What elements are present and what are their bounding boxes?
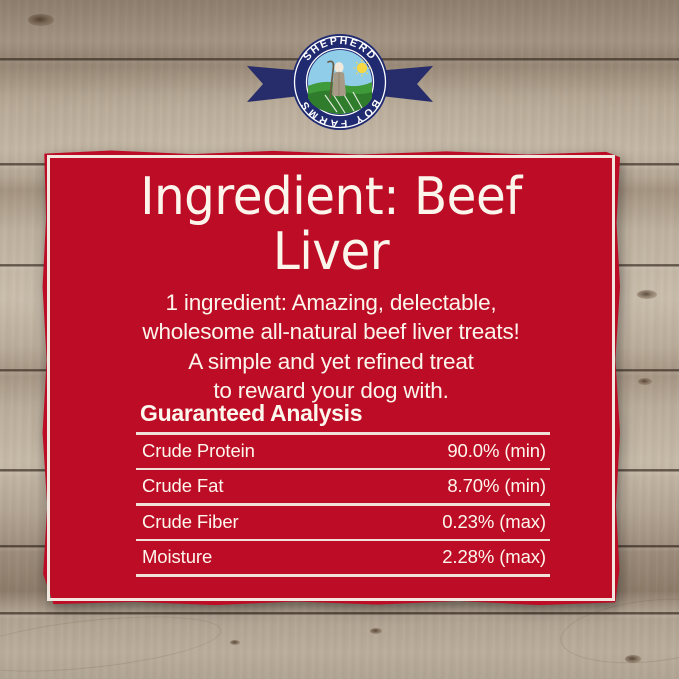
analysis-value: 0.23% (max) — [442, 511, 546, 533]
table-rule — [136, 539, 550, 542]
analysis-label: Crude Fiber — [142, 511, 239, 533]
description-line-3: A simple and yet refined treat — [68, 347, 594, 376]
shepherd-boy-farms-logo-svg: SHEPHERD BOY FARMS — [225, 32, 455, 132]
description-line-2: wholesome all-natural beef liver treats! — [68, 317, 594, 346]
table-row: Crude Protein 90.0% (min) — [136, 435, 550, 468]
product-label-image: SHEPHERD BOY FARMS Ingredient: Beef Live… — [0, 0, 679, 679]
table-row: Crude Fiber 0.23% (max) — [136, 506, 550, 539]
sun-icon — [356, 63, 366, 73]
analysis-label: Crude Fat — [142, 475, 223, 497]
analysis-heading: Guaranteed Analysis — [140, 400, 550, 427]
table-rule — [136, 468, 550, 471]
analysis-value: 8.70% (min) — [447, 475, 546, 497]
table-row: Crude Fat 8.70% (min) — [136, 470, 550, 503]
brand-logo: SHEPHERD BOY FARMS — [0, 32, 679, 132]
description-line-1: 1 ingredient: Amazing, delectable, — [68, 288, 594, 317]
table-row: Moisture 2.28% (max) — [136, 541, 550, 574]
page-title: Ingredient: Beef Liver — [86, 150, 575, 280]
guaranteed-analysis-table: Guaranteed Analysis Crude Protein 90.0% … — [136, 400, 550, 577]
red-label-card: Ingredient: Beef Liver 1 ingredient: Ama… — [42, 150, 620, 606]
analysis-label: Crude Protein — [142, 440, 255, 462]
table-rule — [136, 574, 550, 577]
table-rule — [136, 503, 550, 506]
product-description: 1 ingredient: Amazing, delectable, whole… — [68, 288, 594, 405]
analysis-value: 90.0% (min) — [447, 440, 546, 462]
table-rule — [136, 432, 550, 435]
analysis-label: Moisture — [142, 546, 212, 568]
analysis-value: 2.28% (max) — [442, 546, 546, 568]
